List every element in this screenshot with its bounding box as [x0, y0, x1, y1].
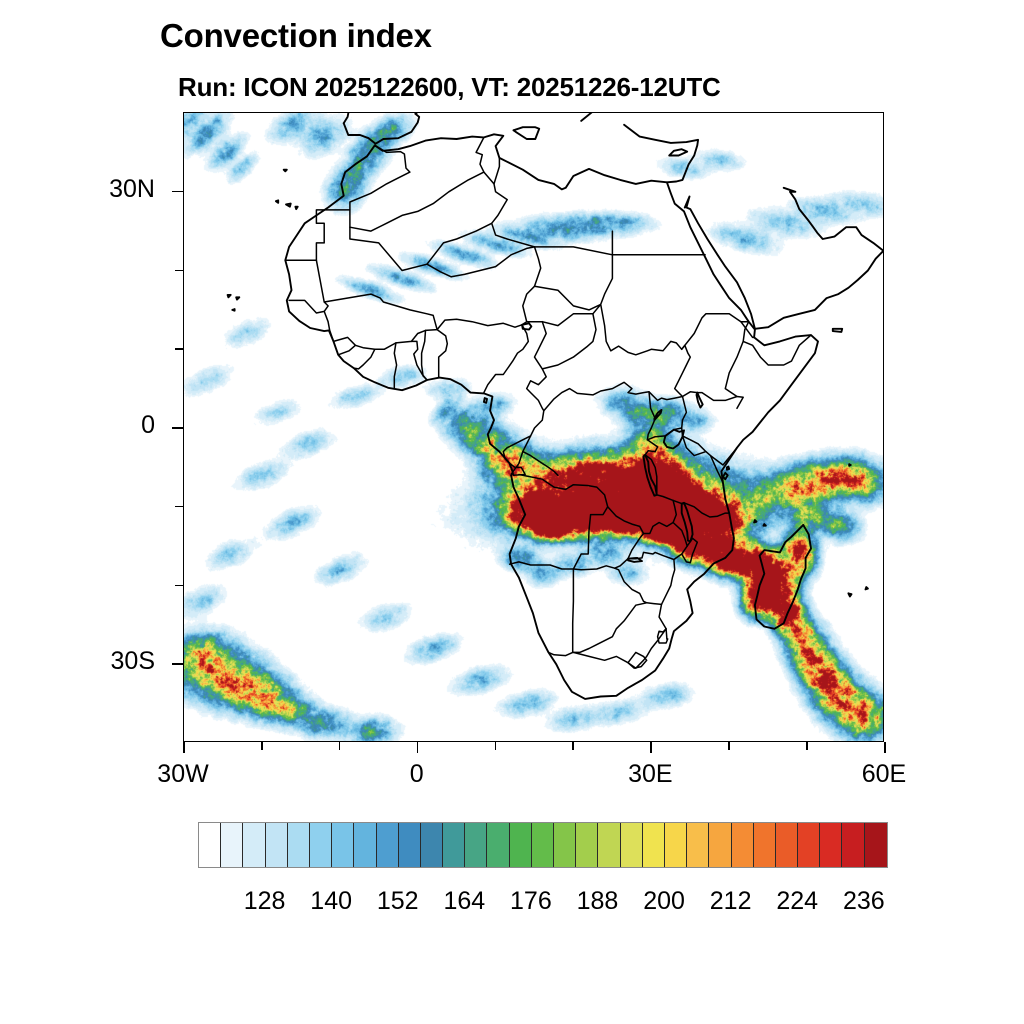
x-tick-minor — [572, 742, 574, 750]
y-tick-minor — [175, 348, 183, 350]
coastline-madeira — [284, 170, 287, 172]
page-title: Convection index — [160, 17, 432, 55]
colorbar-cell[interactable] — [310, 823, 332, 867]
x-tick-major — [417, 742, 419, 753]
x-tick-minor — [495, 742, 497, 750]
x-axis-label: 30E — [570, 760, 730, 789]
colorbar-cell[interactable] — [266, 823, 288, 867]
colorbar-cell[interactable] — [487, 823, 509, 867]
colorbar-cell[interactable] — [221, 823, 243, 867]
colorbar-cell[interactable] — [465, 823, 487, 867]
x-tick-minor — [806, 742, 808, 750]
colorbar-cell[interactable] — [665, 823, 687, 867]
colorbar-cell[interactable] — [510, 823, 532, 867]
y-axis-label: 30N — [35, 175, 155, 204]
y-tick-minor — [175, 270, 183, 272]
colorbar-cell[interactable] — [732, 823, 754, 867]
y-tick-major — [172, 663, 183, 665]
colorbar-cell[interactable] — [399, 823, 421, 867]
coastline-cabo-verde3 — [232, 309, 234, 311]
y-tick-major — [172, 427, 183, 429]
colorbar-cell[interactable] — [598, 823, 620, 867]
map-svg — [184, 113, 884, 742]
colorbar-cell[interactable] — [332, 823, 354, 867]
x-axis-label: 60E — [804, 760, 964, 789]
x-axis-label: 0 — [337, 760, 497, 789]
colorbar-cell[interactable] — [354, 823, 376, 867]
y-tick-minor — [175, 585, 183, 587]
colorbar-cell[interactable] — [754, 823, 776, 867]
y-axis-label: 30S — [35, 647, 155, 676]
figure-canvas: Convection index Run: ICON 2025122600, V… — [0, 0, 1024, 1024]
x-axis-label: 30W — [103, 760, 263, 789]
colorbar-cell[interactable] — [842, 823, 864, 867]
x-tick-major — [884, 742, 886, 753]
colorbar-cell[interactable] — [288, 823, 310, 867]
colorbar-cell[interactable] — [687, 823, 709, 867]
colorbar-cell[interactable] — [865, 823, 887, 867]
x-tick-major — [183, 742, 185, 753]
colorbar[interactable] — [198, 822, 888, 868]
coastline-seychelles — [849, 464, 851, 466]
colorbar-cell[interactable] — [643, 823, 665, 867]
colorbar-cell[interactable] — [709, 823, 731, 867]
x-tick-major — [650, 742, 652, 753]
colorbar-cell[interactable] — [199, 823, 221, 867]
y-axis-label: 0 — [35, 411, 155, 440]
run-valid-time-subtitle: Run: ICON 2025122600, VT: 20251226-12UTC — [178, 72, 721, 102]
x-tick-minor — [339, 742, 341, 750]
x-tick-minor — [728, 742, 730, 750]
coastline-canary2 — [295, 207, 297, 209]
coastline-reunion — [848, 593, 851, 596]
y-tick-minor — [175, 506, 183, 508]
colorbar-cell[interactable] — [377, 823, 399, 867]
coastline-comoros2 — [764, 524, 766, 526]
coastline-canary3 — [276, 200, 278, 202]
colorbar-cell[interactable] — [243, 823, 265, 867]
colorbar-cell[interactable] — [554, 823, 576, 867]
colorbar-cell[interactable] — [421, 823, 443, 867]
colorbar-tick-label: 236 — [819, 887, 909, 916]
colorbar-cell[interactable] — [776, 823, 798, 867]
coastline-mauritius — [866, 587, 868, 589]
y-tick-major — [172, 191, 183, 193]
coastline-comoros1 — [754, 520, 756, 522]
colorbar-cell[interactable] — [621, 823, 643, 867]
colorbar-cell[interactable] — [532, 823, 554, 867]
map-plot-area[interactable] — [183, 112, 884, 742]
coastline-pemba — [727, 467, 729, 470]
colorbar-cell[interactable] — [798, 823, 820, 867]
colorbar-cell[interactable] — [443, 823, 465, 867]
x-tick-minor — [261, 742, 263, 750]
colorbar-cell[interactable] — [576, 823, 598, 867]
colorbar-cell[interactable] — [820, 823, 842, 867]
